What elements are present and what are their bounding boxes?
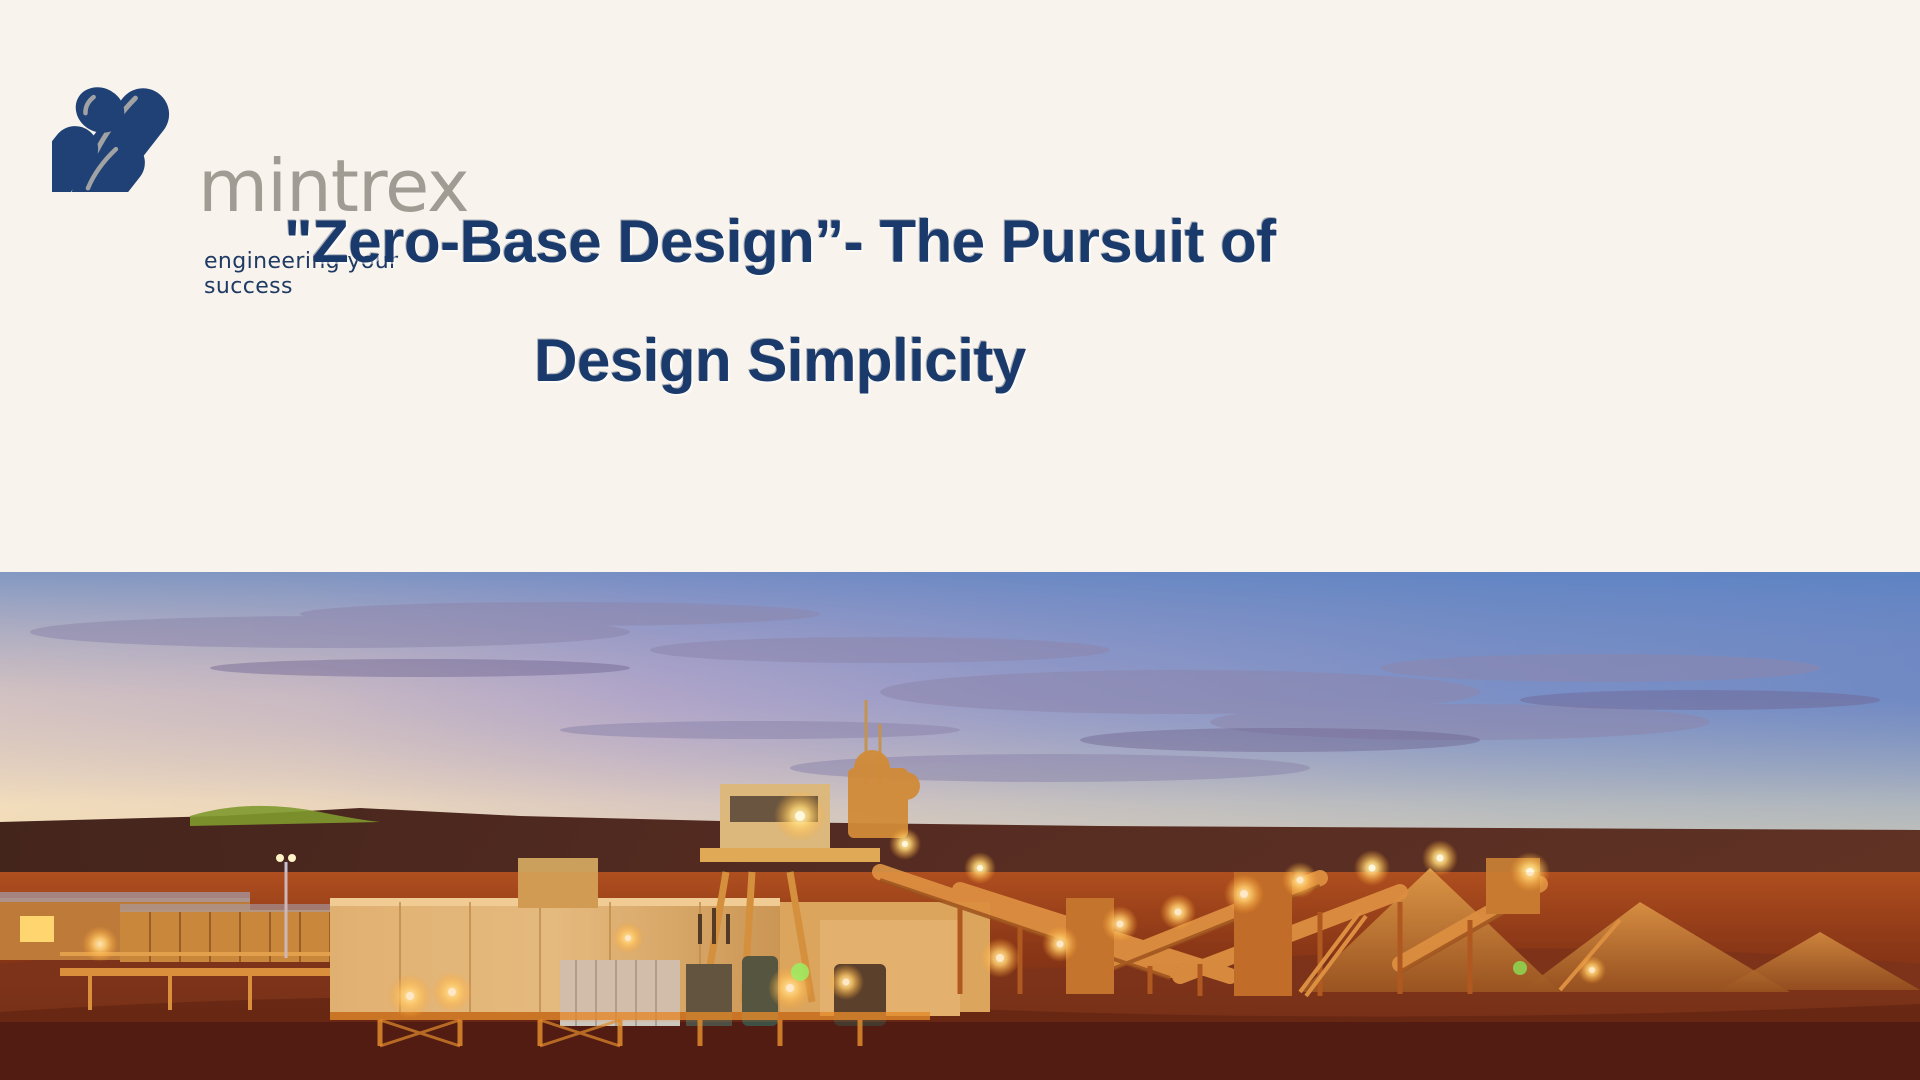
slide-title-line-1: "Zero-Base Design”- The Pursuit of (0, 210, 1560, 273)
mintrex-logo-mark-icon (52, 62, 202, 192)
slide-title: "Zero-Base Design”- The Pursuit of Desig… (0, 210, 1560, 392)
mining-plant-photo (0, 572, 1920, 1080)
slide-title-line-2: Design Simplicity (0, 329, 1560, 392)
slide-root: mintrex engineering your success "Zero-B… (0, 0, 1920, 1080)
